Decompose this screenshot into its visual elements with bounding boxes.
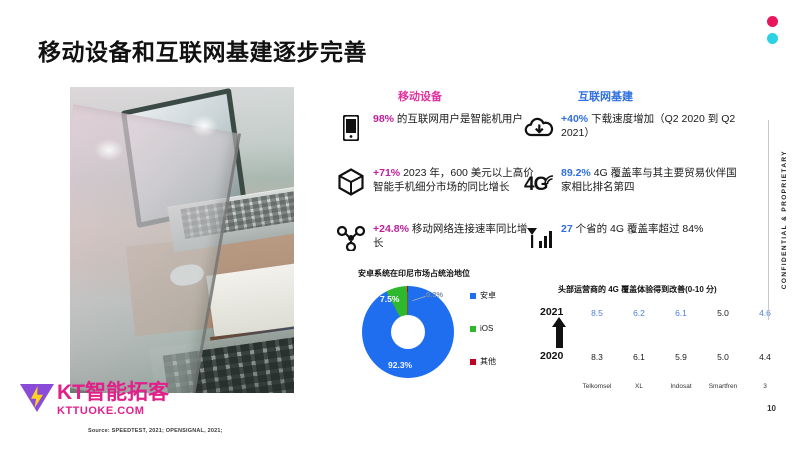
legend-swatch-android xyxy=(470,293,476,299)
cell-2021-indosat: 6.1 xyxy=(660,302,702,324)
smartphone-icon xyxy=(336,112,366,144)
legend-item-android: 安卓 xyxy=(470,290,496,301)
page-number: 10 xyxy=(767,404,776,413)
donut-label-other: 0.3% xyxy=(426,290,443,299)
legend-label-ios: iOS xyxy=(480,324,493,333)
photo-notebook xyxy=(206,263,294,338)
carrier-table-grid: 8.5 6.2 6.1 5.0 4.6 8.3 6.1 5.9 5.0 4.4 … xyxy=(576,302,786,398)
donut-label-ios: 7.5% xyxy=(380,294,399,304)
carrier-4g-score-table: 头部运营商的 4G 覆盖体验得到改善(0-10 分) 2021 2020 8.5… xyxy=(540,284,786,394)
logo-brand-kt: KT xyxy=(57,381,85,404)
stat-infra-3: 27 个省的 4G 覆盖率超过 84% xyxy=(524,222,744,254)
os-share-chart-title: 安卓系统在印尼市场占统治地位 xyxy=(358,268,532,279)
stat-infra-1-body: 下载速度增加（Q2 2020 到 Q2 2021） xyxy=(561,113,735,139)
carrier-name-xl: XL xyxy=(618,376,660,398)
logo-text: KT智能拓客 KTTUOKE.COM xyxy=(57,382,169,417)
stat-infra-3-body: 个省的 4G 覆盖率超过 84% xyxy=(573,223,704,235)
stat-mobile-1-text: 98% 的互联网用户是智能机用户 xyxy=(373,112,523,126)
cell-2020-indosat: 5.9 xyxy=(660,346,702,368)
logo-brand-zh: 智能拓客 xyxy=(85,381,169,404)
lightning-bolt-icon xyxy=(20,382,54,416)
right-rail-divider xyxy=(768,120,769,320)
legend-label-android: 安卓 xyxy=(480,290,496,301)
os-share-chart: 安卓系统在印尼市场占统治地位 92.3% 7.5% 0.3% 安卓 iOS 其他 xyxy=(352,268,532,393)
stat-mobile-3-text: +24.8% 移动网络连接速率同比增长 xyxy=(373,222,531,250)
table-row-2020: 8.3 6.1 5.9 5.0 4.4 xyxy=(576,346,786,368)
column-header-infra: 互联网基建 xyxy=(578,88,633,104)
photo-glare-2 xyxy=(190,115,218,137)
stat-infra-2-highlight: 89.2% xyxy=(561,167,591,179)
arrow-shaft xyxy=(556,326,563,348)
stat-infra-3-highlight: 27 xyxy=(561,223,573,235)
legend-swatch-other xyxy=(470,359,476,365)
cell-2020-three: 4.4 xyxy=(744,346,786,368)
stat-infra-1: +40% 下载速度增加（Q2 2020 到 Q2 2021） xyxy=(524,112,739,144)
page-title: 移动设备和互联网基建逐步完善 xyxy=(38,33,367,67)
logo-brand-row: KT智能拓客 xyxy=(57,381,169,404)
cyan-dot-icon xyxy=(767,33,778,44)
cell-2020-telkomsel: 8.3 xyxy=(576,346,618,368)
legend-item-ios: iOS xyxy=(470,324,496,333)
confidential-notice: CONFIDENTIAL & PROPRIETARY xyxy=(781,150,788,289)
stat-infra-1-text: +40% 下载速度增加（Q2 2020 到 Q2 2021） xyxy=(561,112,739,140)
stat-mobile-1-body: 的互联网用户是智能机用户 xyxy=(394,113,523,125)
network-nodes-icon xyxy=(336,222,366,254)
cell-2020-smartfren: 5.0 xyxy=(702,346,744,368)
cell-2021-xl: 6.2 xyxy=(618,302,660,324)
donut-label-android: 92.3% xyxy=(388,360,412,370)
logo-domain: KTTUOKE.COM xyxy=(57,405,169,417)
carrier-table-title: 头部运营商的 4G 覆盖体验得到改善(0-10 分) xyxy=(558,284,786,295)
column-header-mobile: 移动设备 xyxy=(398,88,442,104)
pink-dot-icon xyxy=(767,16,778,27)
carrier-name-indosat: Indosat xyxy=(660,376,702,398)
stat-infra-2: 4G 89.2% 4G 覆盖率与其主要贸易伙伴国家相比排名第四 xyxy=(524,166,742,198)
stat-infra-2-text: 89.2% 4G 覆盖率与其主要贸易伙伴国家相比排名第四 xyxy=(561,166,742,194)
cell-2021-three: 4.6 xyxy=(744,302,786,324)
cube-icon xyxy=(336,166,366,198)
legend-label-other: 其他 xyxy=(480,356,496,367)
stat-mobile-1: 98% 的互联网用户是智能机用户 xyxy=(336,112,531,144)
legend-item-other: 其他 xyxy=(470,356,496,367)
legend-swatch-ios xyxy=(470,326,476,332)
4g-signal-icon: 4G xyxy=(524,166,554,198)
cell-2021-smartfren: 5.0 xyxy=(702,302,744,324)
source-citation: Source: SPEEDTEST, 2021; OPENSIGNAL, 202… xyxy=(88,428,223,434)
carrier-name-smartfren: Smartfren xyxy=(702,376,744,398)
decorative-dots xyxy=(767,16,778,50)
stat-infra-3-text: 27 个省的 4G 覆盖率超过 84% xyxy=(561,222,703,236)
hero-photo xyxy=(70,87,294,393)
cell-2021-telkomsel: 8.5 xyxy=(576,302,618,324)
photo-glare-1 xyxy=(94,139,124,161)
table-row-carriers: Telkomsel XL Indosat Smartfren 3 xyxy=(576,376,786,398)
carrier-name-telkomsel: Telkomsel xyxy=(576,376,618,398)
stat-mobile-2: +71% 2023 年，600 美元以上高价智能手机细分市场的同比增长 xyxy=(336,166,536,198)
year-label-2020: 2020 xyxy=(540,350,563,362)
antenna-bars-icon xyxy=(524,222,554,254)
stat-infra-1-highlight: +40% xyxy=(561,113,588,125)
stat-mobile-3-highlight: +24.8% xyxy=(373,223,409,235)
carrier-name-three: 3 xyxy=(744,376,786,398)
stat-mobile-2-highlight: +71% xyxy=(373,167,400,179)
stat-mobile-3: +24.8% 移动网络连接速率同比增长 xyxy=(336,222,531,254)
os-share-legend: 安卓 iOS 其他 xyxy=(470,290,496,390)
stat-mobile-1-highlight: 98% xyxy=(373,113,394,125)
stat-mobile-2-text: +71% 2023 年，600 美元以上高价智能手机细分市场的同比增长 xyxy=(373,166,536,194)
cell-2020-xl: 6.1 xyxy=(618,346,660,368)
cloud-download-icon xyxy=(524,112,554,144)
donut-hole xyxy=(391,315,425,349)
watermark-logo: KT智能拓客 KTTUOKE.COM xyxy=(20,382,169,417)
table-row-2021: 8.5 6.2 6.1 5.0 4.6 xyxy=(576,302,786,324)
slide-canvas: 移动设备和互联网基建逐步完善 移动设备 98% 的互联网用户是智能机用户 xyxy=(0,0,800,450)
